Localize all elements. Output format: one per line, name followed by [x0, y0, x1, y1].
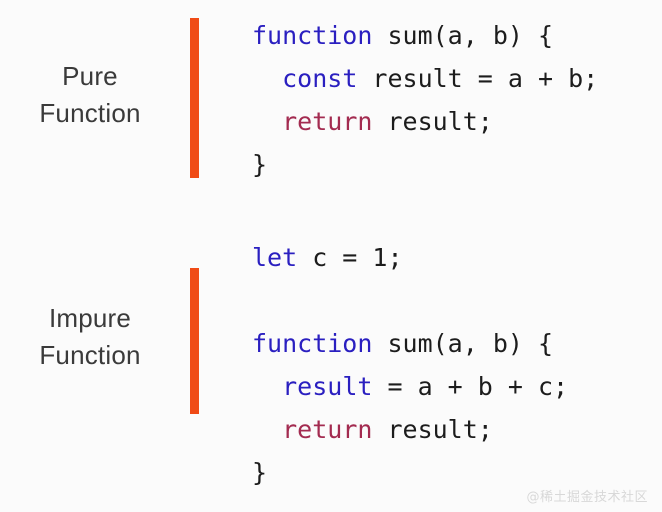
code-token: = a + b + c; — [372, 372, 568, 401]
code-token — [252, 372, 282, 401]
code-token: result = a + b; — [357, 64, 598, 93]
code-token: c = 1; — [297, 243, 402, 272]
comparison-figure: Pure Function function sum(a, b) { const… — [0, 0, 662, 512]
code-token: result; — [372, 415, 492, 444]
pure-function-accent-bar — [190, 18, 199, 178]
code-line: function sum(a, b) { — [252, 322, 568, 365]
code-token: sum(a, b) { — [372, 329, 553, 358]
pure-function-code-block: function sum(a, b) { const result = a + … — [252, 14, 598, 186]
code-token: } — [252, 150, 267, 179]
impure-function-accent-bar — [190, 268, 199, 414]
code-token — [252, 415, 282, 444]
code-line: return result; — [252, 408, 568, 451]
code-line: } — [252, 451, 568, 494]
code-token: function — [252, 329, 372, 358]
code-token: function — [252, 21, 372, 50]
code-token: return — [282, 415, 372, 444]
code-line: function sum(a, b) { — [252, 14, 598, 57]
code-token: result; — [372, 107, 492, 136]
impure-function-label: Impure Function — [0, 300, 180, 374]
watermark: @稀土掘金技术社区 — [526, 486, 648, 505]
code-token: const — [282, 64, 357, 93]
code-token: result — [282, 372, 372, 401]
code-token: sum(a, b) { — [372, 21, 553, 50]
code-line: let c = 1; — [252, 236, 568, 279]
impure-function-code-block: let c = 1;function sum(a, b) { result = … — [252, 236, 568, 494]
code-token — [252, 107, 282, 136]
pure-function-label: Pure Function — [0, 58, 180, 132]
code-token: let — [252, 243, 297, 272]
code-line: } — [252, 143, 598, 186]
code-token: return — [282, 107, 372, 136]
code-line: return result; — [252, 100, 598, 143]
code-token: } — [252, 458, 267, 487]
code-token — [252, 64, 282, 93]
code-line: const result = a + b; — [252, 57, 598, 100]
code-line: result = a + b + c; — [252, 365, 568, 408]
code-line — [252, 279, 568, 322]
